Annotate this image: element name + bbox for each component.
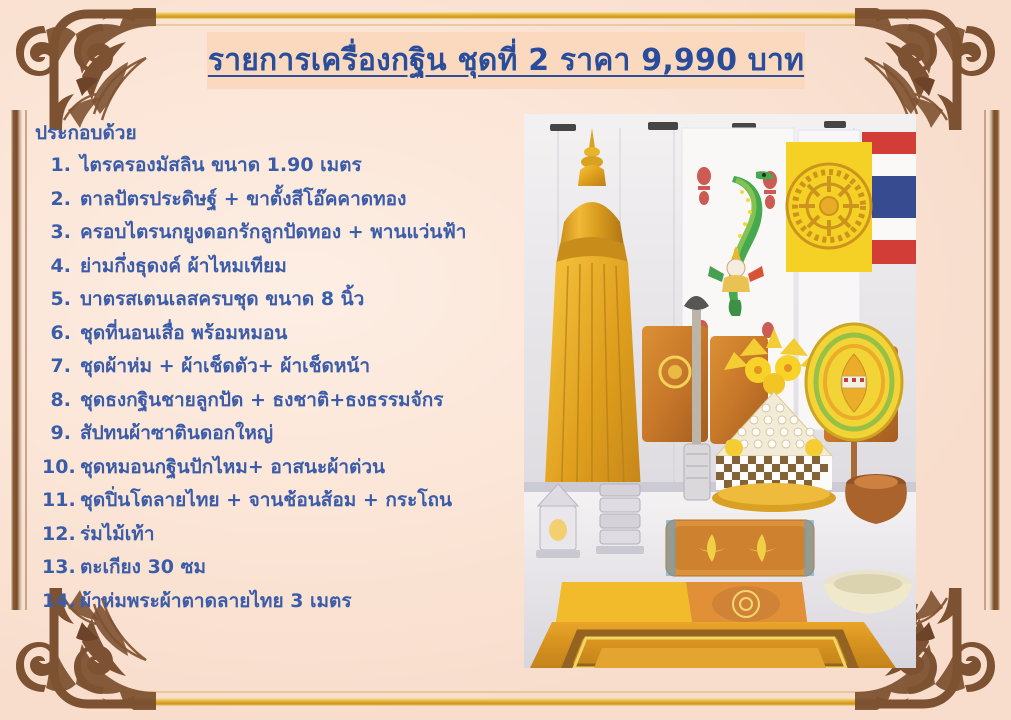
frame-rule-left-thin (25, 110, 27, 610)
list-item: 7.ชุดผ้าห่ม + ผ้าเช็ดตัว+ ผ้าเช็ดหน้า (42, 351, 512, 385)
list-item: 1.ไตรครองมัสลิน ขนาด 1.90 เมตร (42, 150, 512, 184)
list-item-label: ชุดธงกฐินชายลูกปัด + ธงชาติ+ธงธรรมจักร (80, 385, 512, 415)
list-item: 8.ชุดธงกฐินชายลูกปัด + ธงชาติ+ธงธรรมจักร (42, 385, 512, 419)
list-item: 11.ชุดปิ่นโตลายไทย + จานช้อนส้อม + กระโถ… (42, 485, 512, 519)
slide-canvas: รายการเครื่องกฐิน ชุดที่ 2 ราคา 9,990 บา… (0, 0, 1011, 720)
list-item-number: 8. (42, 389, 80, 411)
list-item-label: ย่ามกึ่งธุดงค์ ผ้าไหมเทียม (80, 251, 512, 281)
list-item-number: 6. (42, 322, 80, 344)
frame-rule-left (11, 110, 22, 610)
list-item-number: 2. (42, 188, 80, 210)
list-item: 9.สัปทนผ้าซาตินดอกใหญ่ (42, 418, 512, 452)
list-item-label: ไตรครองมัสลิน ขนาด 1.90 เมตร (80, 150, 512, 180)
list-item-number: 7. (42, 355, 80, 377)
list-item-number: 5. (42, 288, 80, 310)
list-item: 14.ผ้าห่มพระผ้าตาดลายไทย 3 เมตร (42, 586, 512, 620)
list-item-label: ร่มไม้เท้า (80, 519, 512, 549)
list-item-number: 3. (42, 221, 80, 243)
list-item-label: ตะเกียง 30 ซม (80, 552, 512, 582)
list-item-number: 11. (42, 489, 80, 511)
list-item: 13.ตะเกียง 30 ซม (42, 552, 512, 586)
list-item: 5.บาตรสเตนเลสครบชุด ขนาด 8 นิ้ว (42, 284, 512, 318)
list-item-label: ชุดหมอนกฐินปักไหม+ อาสนะผ้าต่วน (80, 452, 512, 482)
list-item-label: ครอบไตรนกยูงดอกรักลูกปัดทอง + พานแว่นฟ้า (80, 217, 512, 247)
frame-rule-right-thin (984, 110, 986, 610)
list-item-number: 12. (42, 523, 80, 545)
frame-rule-top (120, 12, 891, 19)
frame-rule-top-thin (120, 24, 891, 26)
list-item: 2.ตาลปัตรประดิษฐ์ + ขาตั้งสีโอ๊คคาดทอง (42, 184, 512, 218)
title-banner: รายการเครื่องกฐิน ชุดที่ 2 ราคา 9,990 บา… (207, 32, 805, 89)
kathina-set-photo (524, 114, 916, 668)
list-item-label: ตาลปัตรประดิษฐ์ + ขาตั้งสีโอ๊คคาดทอง (80, 184, 512, 214)
list-item-number: 9. (42, 422, 80, 444)
list-item-label: สัปทนผ้าซาตินดอกใหญ่ (80, 418, 512, 448)
frame-rule-right (989, 110, 1000, 610)
list-item: 3.ครอบไตรนกยูงดอกรักลูกปัดทอง + พานแว่นฟ… (42, 217, 512, 251)
page-title: รายการเครื่องกฐิน ชุดที่ 2 ราคา 9,990 บา… (208, 37, 804, 84)
list-item: 6.ชุดที่นอนเสื่อ พร้อมหมอน (42, 318, 512, 352)
list-item-label: ชุดผ้าห่ม + ผ้าเช็ดตัว+ ผ้าเช็ดหน้า (80, 351, 512, 381)
list-item-label: ชุดปิ่นโตลายไทย + จานช้อนส้อม + กระโถน (80, 485, 512, 515)
corner-ornament-top-left (6, 2, 156, 130)
list-item-label: บาตรสเตนเลสครบชุด ขนาด 8 นิ้ว (80, 284, 512, 314)
list-item-number: 13. (42, 556, 80, 578)
list-item-label: ผ้าห่มพระผ้าตาดลายไทย 3 เมตร (80, 586, 512, 616)
list-item: 4.ย่ามกึ่งธุดงค์ ผ้าไหมเทียม (42, 251, 512, 285)
item-list: 1.ไตรครองมัสลิน ขนาด 1.90 เมตร 2.ตาลปัตร… (42, 150, 512, 619)
list-item-number: 14. (42, 590, 80, 612)
intro-label: ประกอบด้วย (35, 118, 137, 148)
list-item-number: 4. (42, 255, 80, 277)
list-item: 10.ชุดหมอนกฐินปักไหม+ อาสนะผ้าต่วน (42, 452, 512, 486)
corner-ornament-top-right (855, 2, 1005, 130)
list-item-number: 10. (42, 456, 80, 478)
list-item-label: ชุดที่นอนเสื่อ พร้อมหมอน (80, 318, 512, 348)
frame-rule-bottom (120, 698, 891, 706)
list-item-number: 1. (42, 154, 80, 176)
frame-rule-bottom-thin (120, 691, 891, 693)
list-item: 12.ร่มไม้เท้า (42, 519, 512, 553)
